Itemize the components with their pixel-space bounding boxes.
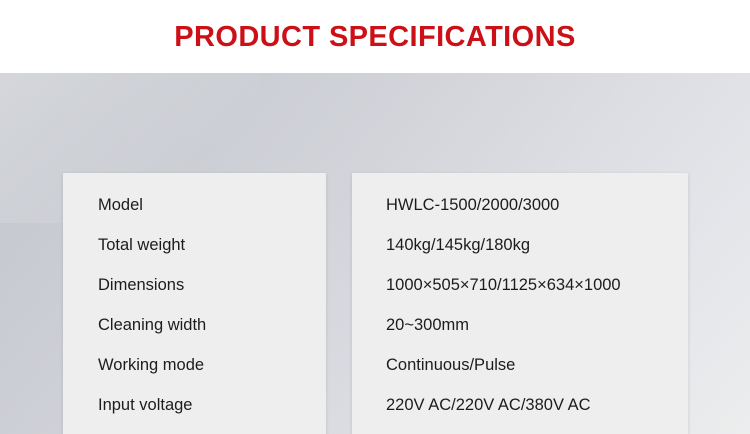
spec-value-working-mode: Continuous/Pulse [386, 355, 515, 375]
product-specifications-page: PRODUCT SPECIFICATIONS Model Total weigh… [0, 0, 750, 434]
spec-value-dimensions: 1000×505×710/1125×634×1000 [386, 275, 621, 295]
spec-label-dimensions: Dimensions [98, 275, 184, 295]
spec-label-list: Model Total weight Dimensions Cleaning w… [63, 173, 326, 434]
spec-label-total-weight: Total weight [98, 235, 185, 255]
spec-value-panel: HWLC-1500/2000/3000 140kg/145kg/180kg 10… [352, 173, 688, 434]
spec-value-total-weight: 140kg/145kg/180kg [386, 235, 530, 255]
spec-value-cleaning-width: 20~300mm [386, 315, 469, 335]
background-gradient: Model Total weight Dimensions Cleaning w… [0, 73, 750, 434]
page-title: PRODUCT SPECIFICATIONS [174, 23, 575, 52]
spec-value-input-voltage: 220V AC/220V AC/380V AC [386, 395, 591, 415]
header-band: PRODUCT SPECIFICATIONS [0, 0, 750, 73]
spec-label-input-voltage: Input voltage [98, 395, 193, 415]
spec-label-panel: Model Total weight Dimensions Cleaning w… [63, 173, 326, 434]
spec-value-model: HWLC-1500/2000/3000 [386, 195, 559, 215]
spec-label-model: Model [98, 195, 143, 215]
spec-label-cleaning-width: Cleaning width [98, 315, 206, 335]
spec-value-list: HWLC-1500/2000/3000 140kg/145kg/180kg 10… [352, 173, 688, 434]
spec-label-working-mode: Working mode [98, 355, 204, 375]
